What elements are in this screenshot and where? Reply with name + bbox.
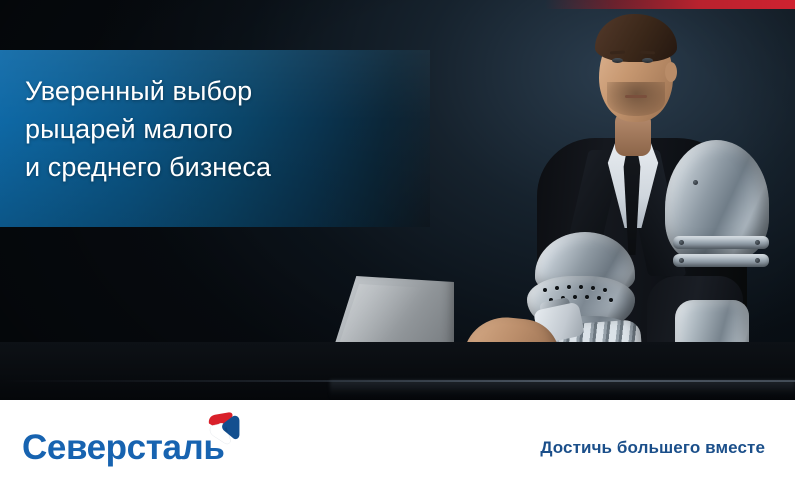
pauldron-rivet — [679, 240, 684, 245]
severstal-logo[interactable]: Северсталь — [22, 426, 224, 470]
severstal-chevron-logo-icon — [204, 410, 244, 448]
visor-vent-hole — [585, 295, 589, 299]
severstal-banner: Уверенный выбор рыцарей малого и среднег… — [0, 0, 795, 486]
ear — [665, 62, 677, 82]
visor-vent-hole — [567, 285, 571, 289]
hair — [595, 14, 677, 62]
visor-vent-hole — [597, 296, 601, 300]
headline-text: Уверенный выбор рыцарей малого и среднег… — [25, 72, 355, 186]
desk-edge-highlight — [0, 380, 795, 382]
mouth — [625, 95, 647, 98]
visor-vent-hole — [579, 285, 583, 289]
headline-panel: Уверенный выбор рыцарей малого и среднег… — [0, 50, 430, 227]
visor-vent-hole — [573, 295, 577, 299]
hero-photo-area: Уверенный выбор рыцарей малого и среднег… — [0, 0, 795, 400]
pauldron-rivet — [755, 240, 760, 245]
footer-bar: Северсталь Достичь большего вместе — [0, 400, 795, 486]
desk-reflection — [330, 380, 795, 400]
pauldron-rivet — [693, 180, 698, 185]
visor-vent-hole — [609, 298, 613, 302]
eye-right — [642, 58, 653, 63]
eye-left — [612, 58, 623, 63]
pauldron-rivet — [679, 258, 684, 263]
stubble-beard — [607, 82, 665, 116]
pauldron-rivet — [755, 258, 760, 263]
visor-vent-hole — [591, 286, 595, 290]
visor-vent-hole — [603, 288, 607, 292]
tagline-text: Достичь большего вместе — [540, 438, 765, 458]
logo-wordmark: Северсталь — [22, 428, 224, 467]
visor-vent-hole — [555, 286, 559, 290]
